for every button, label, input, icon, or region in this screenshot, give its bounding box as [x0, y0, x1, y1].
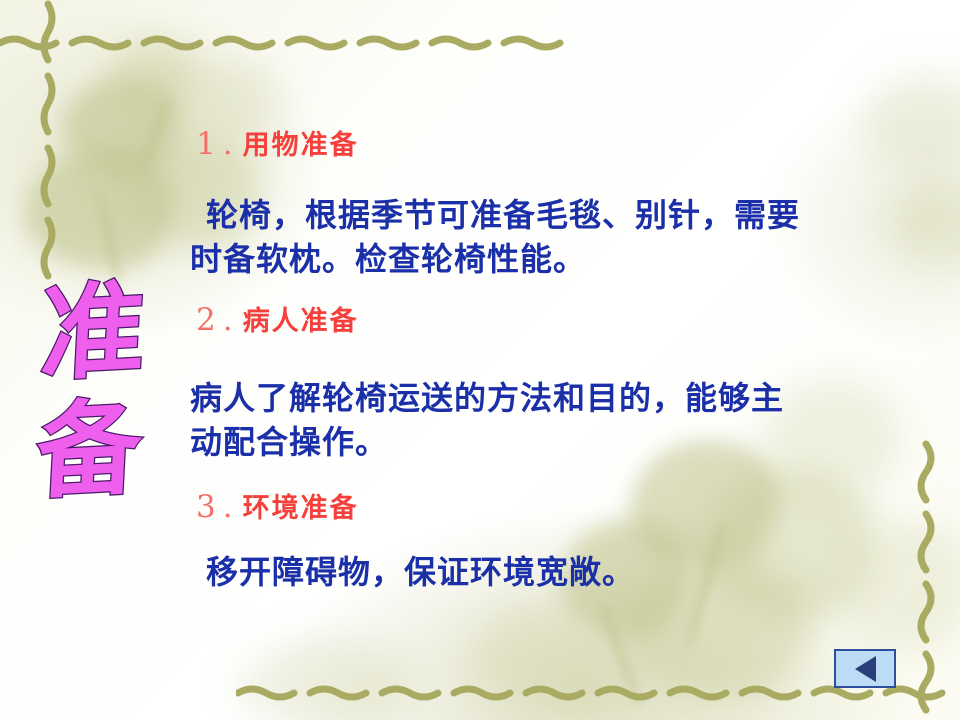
section-number-2: 2	[196, 302, 217, 338]
section-heading-text-1: 用物准备	[243, 130, 359, 161]
section-heading-3: 3.环境准备	[196, 492, 359, 523]
section-body-3-line-1: 移开障碍物，保证环境宽敞。	[206, 556, 635, 588]
presentation-slide: 准 备 1.用物准备 轮椅，根据季节可准备毛毯、别针，需要 时备软枕。检查轮椅性…	[0, 0, 960, 720]
section-separator-1: .	[217, 126, 237, 162]
section-body-2-line-2: 动配合操作。	[190, 426, 388, 458]
section-number-3: 3	[196, 489, 217, 525]
section-separator-3: .	[217, 489, 237, 525]
section-number-1: 1	[196, 126, 217, 162]
left-triangle-icon	[855, 656, 876, 682]
section-heading-1: 1.用物准备	[196, 129, 359, 160]
back-navigation-button[interactable]	[834, 649, 896, 688]
section-body-2-line-1: 病人了解轮椅运送的方法和目的，能够主	[190, 382, 784, 414]
slide-background	[0, 0, 960, 720]
section-separator-2: .	[217, 302, 237, 338]
section-heading-text-3: 环境准备	[243, 493, 359, 524]
section-body-1-line-1: 轮椅，根据季节可准备毛毯、别针，需要	[206, 199, 800, 231]
section-heading-2: 2.病人准备	[196, 305, 359, 336]
section-body-1-line-2: 时备软枕。检查轮椅性能。	[190, 243, 586, 275]
section-heading-text-2: 病人准备	[243, 306, 359, 337]
